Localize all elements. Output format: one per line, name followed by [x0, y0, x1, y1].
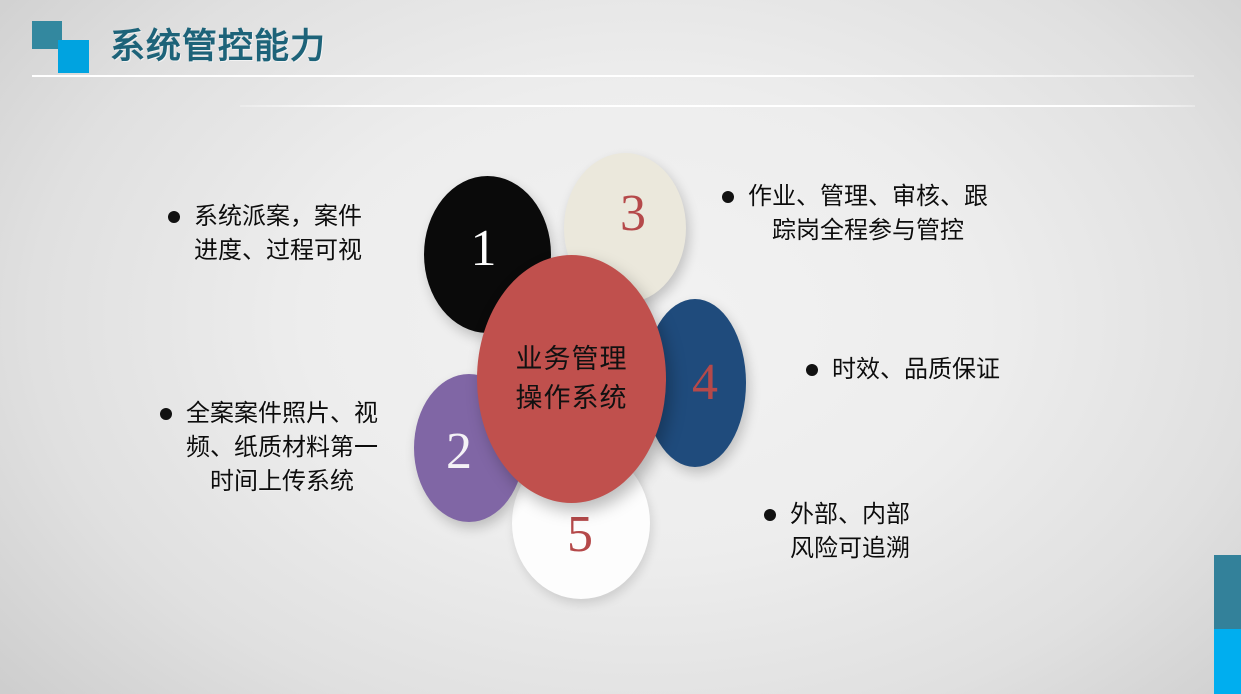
bullet-icon	[168, 211, 180, 223]
bullet-icon	[764, 509, 776, 521]
bullet-icon	[160, 408, 172, 420]
callout-3: 作业、管理、审核、跟 踪岗全程参与管控	[722, 180, 1022, 248]
callout-1: 系统派案，案件 进度、过程可视	[168, 200, 408, 268]
petal-1-number: 1	[471, 223, 497, 275]
bullet-icon	[806, 364, 818, 376]
callout-3-text: 作业、管理、审核、跟 踪岗全程参与管控	[748, 180, 988, 248]
petal-5-number: 5	[567, 509, 593, 561]
petal-2-number: 2	[446, 426, 472, 478]
callout-4-text: 时效、品质保证	[832, 353, 1000, 387]
petal-diagram: 1 3 2 4 5 业务管理 操作系统 系统派案，案件 进度、过程可视 全案案件…	[0, 0, 1241, 694]
callout-4: 时效、品质保证	[806, 353, 1046, 387]
petal-3-number: 3	[620, 188, 646, 240]
callout-5-text: 外部、内部 风险可追溯	[790, 498, 910, 566]
core-label-line-1: 业务管理	[516, 340, 628, 379]
callout-1-text: 系统派案，案件 进度、过程可视	[194, 200, 362, 268]
core-label-line-2: 操作系统	[516, 379, 628, 418]
slide-canvas: 系统管控能力 1 3 2 4 5 业务管理 操作系统 系统派案，案件 进度、过程…	[0, 0, 1241, 694]
petal-4-number: 4	[692, 357, 718, 409]
callout-2: 全案案件照片、视 频、纸质材料第一 时间上传系统	[160, 397, 412, 499]
diagram-core[interactable]: 业务管理 操作系统	[477, 255, 666, 503]
bullet-icon	[722, 191, 734, 203]
callout-2-text: 全案案件照片、视 频、纸质材料第一 时间上传系统	[186, 397, 378, 499]
callout-5: 外部、内部 风险可追溯	[764, 498, 994, 566]
